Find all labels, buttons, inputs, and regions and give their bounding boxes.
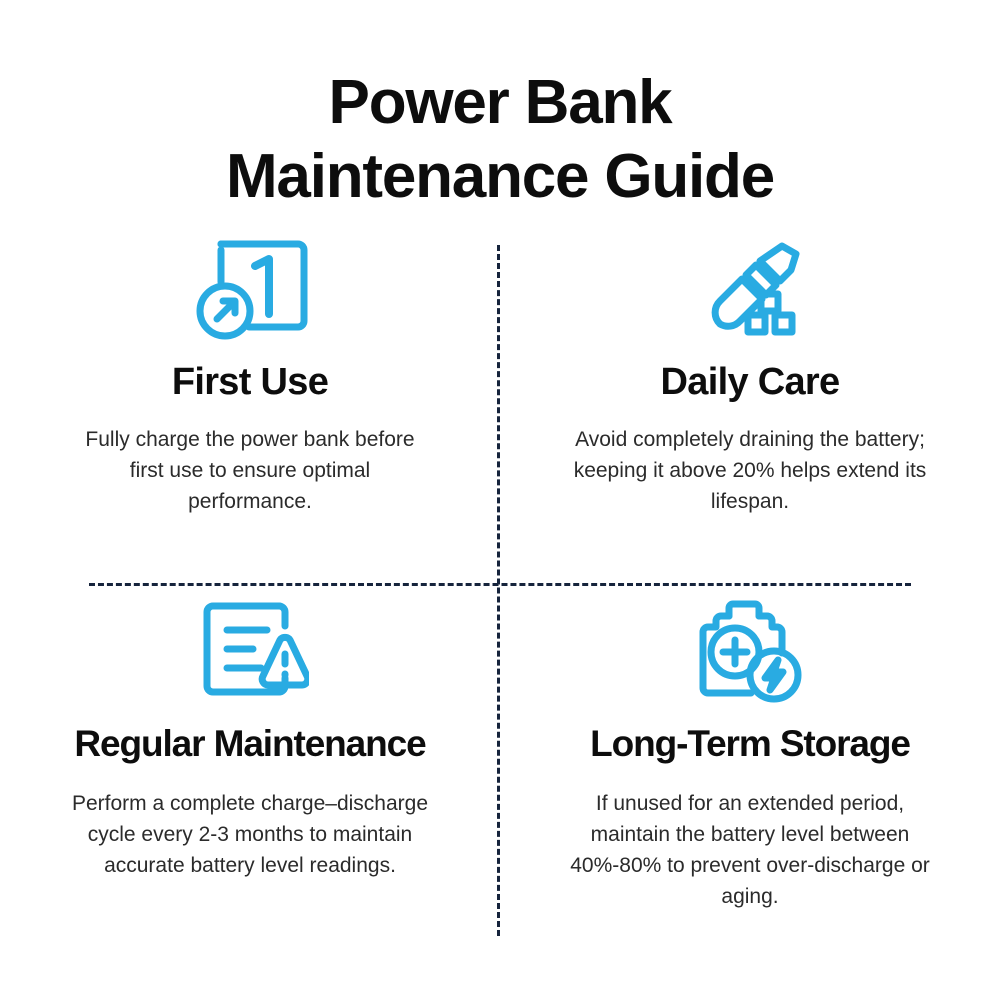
page-title: Power Bank Maintenance Guide: [0, 66, 1000, 214]
card-title: Long-Term Storage: [590, 722, 910, 766]
document-warning-icon: [191, 594, 309, 706]
screwdriver-tools-icon: [690, 232, 810, 344]
square-number-one-arrow-icon: [191, 232, 309, 344]
card-title: Daily Care: [661, 360, 840, 404]
card-body: Avoid completely draining the battery; k…: [573, 424, 928, 517]
page-title-line-1: Power Bank: [0, 66, 1000, 140]
infographic-root: Power Bank Maintenance Guide: [0, 0, 1000, 1000]
battery-plus-bolt-icon: [693, 594, 807, 706]
card-title: Regular Maintenance: [74, 722, 425, 766]
card-first-use: First Use Fully charge the power bank be…: [0, 232, 500, 584]
card-daily-care: Daily Care Avoid completely draining the…: [500, 232, 1000, 584]
card-title: First Use: [172, 360, 328, 404]
card-body: If unused for an extended period, mainta…: [564, 788, 936, 912]
card-body: Perform a complete charge–discharge cycl…: [64, 788, 436, 881]
card-body: Fully charge the power bank before first…: [73, 424, 428, 517]
card-regular-maintenance: Regular Maintenance Perform a complete c…: [0, 584, 500, 958]
card-long-term-storage: Long-Term Storage If unused for an exten…: [500, 584, 1000, 958]
cards-grid: First Use Fully charge the power bank be…: [0, 232, 1000, 958]
page-title-line-2: Maintenance Guide: [0, 140, 1000, 214]
